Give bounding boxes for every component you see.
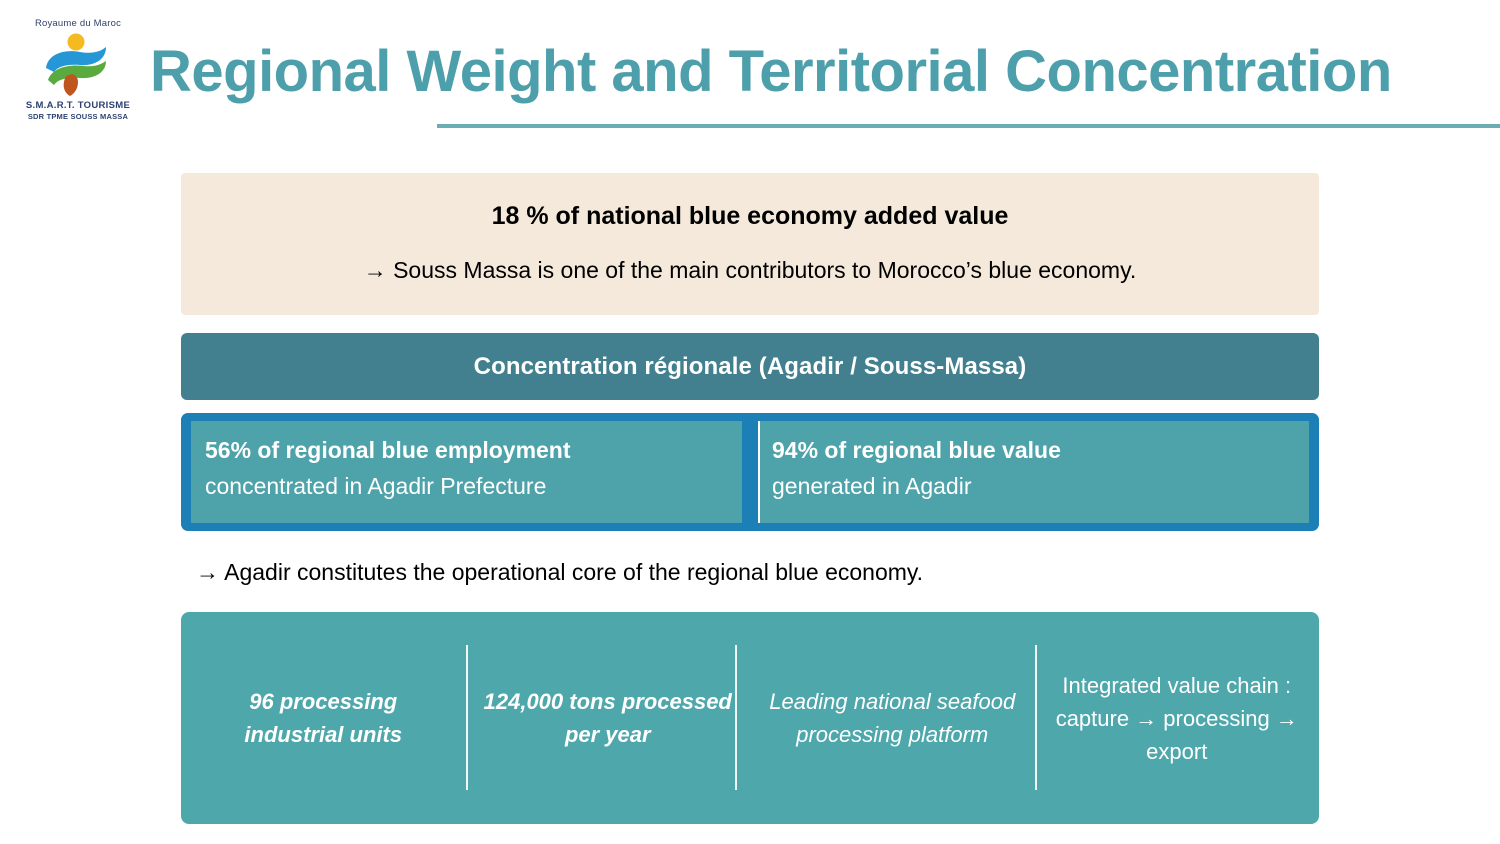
smart-tourisme-emblem-icon (36, 32, 120, 98)
metric-card-employment: 56% of regional blue employment concentr… (191, 421, 742, 523)
orange-shape-icon (64, 74, 78, 96)
key-figures-divider-2 (735, 645, 737, 790)
logo-kingdom-label: Royaume du Maroc (18, 18, 138, 29)
section-band: Concentration régionale (Agadir / Souss-… (181, 333, 1319, 400)
logo-subbrand-line: SDR TPME SOUSS MASSA (18, 112, 138, 121)
metric-employment-detail: concentrated in Agadir Prefecture (205, 471, 728, 502)
callout-subline: → Souss Massa is one of the main contrib… (211, 254, 1289, 286)
organization-logo: Royaume du Maroc S.M.A.R.T. TOURISME SDR… (18, 18, 138, 128)
key-figure-tonnage: 124,000 tons processed per year (466, 685, 751, 751)
section-band-label: Concentration régionale (Agadir / Souss-… (474, 353, 1027, 381)
concentration-metrics-frame: 56% of regional blue employment concentr… (181, 413, 1319, 531)
callout-panel: 18 % of national blue economy added valu… (181, 173, 1319, 315)
page-title: Regional Weight and Territorial Concentr… (150, 36, 1480, 108)
metric-cards-divider (758, 421, 760, 523)
metric-value-detail: generated in Agadir (772, 471, 1295, 502)
key-figures-panel: 96 processing industrial units 124,000 t… (181, 612, 1319, 824)
sun-circle-icon (68, 34, 85, 51)
key-figure-value-chain: Integrated value chain : capture → proce… (1035, 669, 1320, 768)
key-figure-platform: Leading national seafood processing plat… (750, 685, 1035, 751)
title-underline (437, 124, 1500, 128)
conclusion-note: → Agadir constitutes the operational cor… (196, 556, 923, 589)
logo-brand-line: S.M.A.R.T. TOURISME (18, 100, 138, 111)
key-figure-units: 96 processing industrial units (181, 685, 466, 751)
metric-value-value: 94% of regional blue value (772, 435, 1295, 466)
callout-headline: 18 % of national blue economy added valu… (211, 199, 1289, 233)
key-figures-divider-3 (1035, 645, 1037, 790)
key-figures-divider-1 (466, 645, 468, 790)
metric-card-value: 94% of regional blue value generated in … (758, 421, 1309, 523)
slide: Royaume du Maroc S.M.A.R.T. TOURISME SDR… (0, 0, 1500, 844)
metric-employment-value: 56% of regional blue employment (205, 435, 728, 466)
